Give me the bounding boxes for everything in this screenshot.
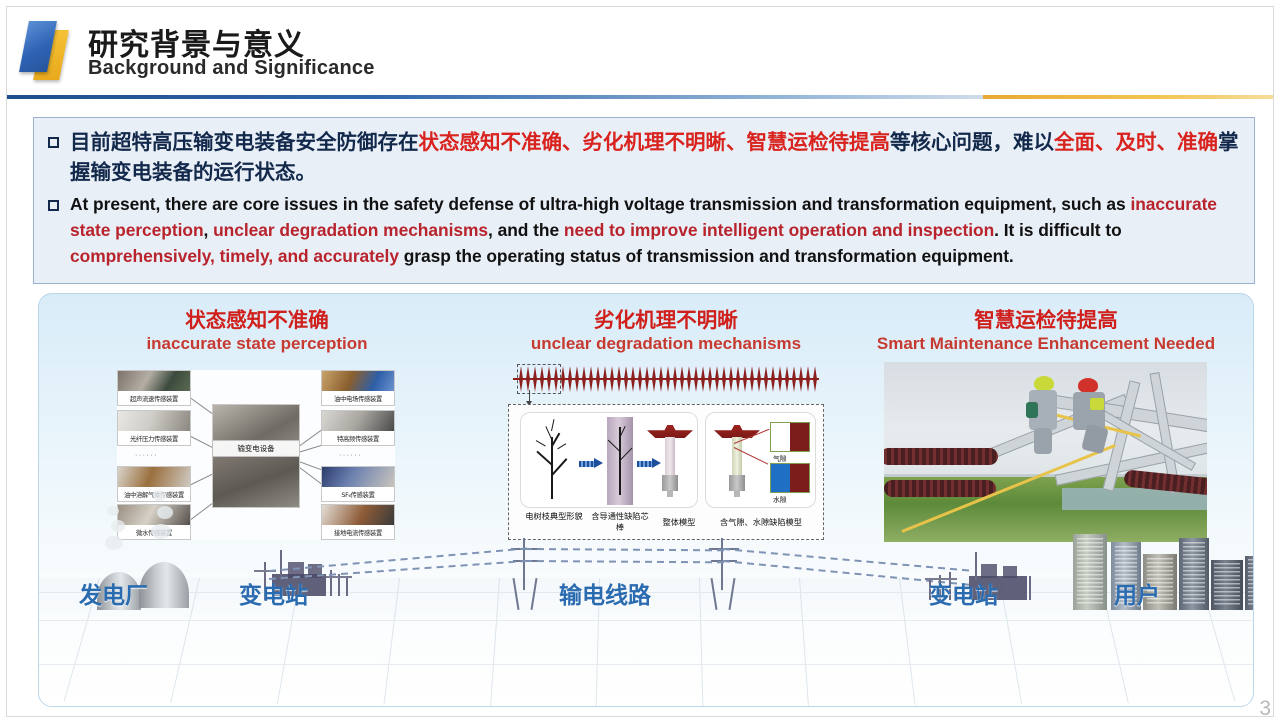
en-red2: unclear degradation mechanisms bbox=[213, 220, 488, 240]
city-building bbox=[1073, 534, 1107, 610]
insulator-fin bbox=[617, 366, 621, 392]
insulator-fin bbox=[778, 366, 782, 392]
header-rule-gold bbox=[983, 95, 1273, 99]
scene-label-user: 用户 bbox=[1114, 576, 1160, 610]
degradation-card-right: 气隙 水隙 bbox=[705, 412, 816, 508]
en-red4: comprehensively, timely, and accurately bbox=[70, 246, 399, 266]
column-heading-1: 状态感知不准确 inaccurate state perception bbox=[107, 308, 407, 355]
insulator-fin bbox=[610, 366, 614, 392]
air-gap-swatch bbox=[770, 422, 810, 452]
ellipsis-left: ······ bbox=[135, 452, 158, 459]
bullet-square-icon bbox=[48, 137, 59, 148]
scene-label-substation-right: 变电站 bbox=[929, 576, 998, 610]
figure-line-workers-photo bbox=[884, 362, 1207, 542]
insulator-fin bbox=[771, 366, 775, 392]
insulator-fin bbox=[603, 366, 607, 392]
insulator-fin bbox=[673, 366, 677, 392]
cn-red1: 状态感知不准确、劣化机理不明晰、智慧运检待提高 bbox=[419, 131, 891, 154]
en-seg3: , and the bbox=[488, 220, 564, 240]
ellipsis-right: ······ bbox=[339, 452, 362, 459]
en-red3: need to improve intelligent operation an… bbox=[564, 220, 994, 240]
column-2-cn: 劣化机理不明晰 bbox=[491, 308, 841, 333]
sensor-box: SF₆传感装置 bbox=[321, 466, 395, 502]
helmet-icon bbox=[1034, 376, 1054, 391]
insulator-fin bbox=[687, 366, 691, 392]
insulator-string-photo bbox=[884, 448, 998, 465]
insulator-fin bbox=[645, 366, 649, 392]
center-equipment-label: 输变电设备 bbox=[212, 440, 300, 457]
column-3-cn: 智慧运检待提高 bbox=[871, 308, 1221, 333]
worker-red-helmet bbox=[1070, 378, 1114, 452]
scene-label-transmission-line: 输电线路 bbox=[559, 576, 651, 610]
insulator-fin bbox=[666, 366, 670, 392]
insulator-fin bbox=[624, 366, 628, 392]
bullet-square-icon bbox=[48, 200, 59, 211]
cn-red2: 全面、及时、准确 bbox=[1054, 131, 1218, 154]
insulator-fin bbox=[722, 366, 726, 392]
sensor-box: 油中电场传感装置 bbox=[321, 370, 395, 406]
helmet-icon bbox=[1078, 378, 1098, 393]
city-building bbox=[1245, 556, 1254, 610]
en-seg1: At present, there are core issues in the… bbox=[70, 194, 1130, 214]
insulator-fin bbox=[750, 366, 754, 392]
insulator-fin bbox=[757, 366, 761, 392]
insulator-fin bbox=[589, 366, 593, 392]
cn-seg1: 目前超特高压输变电装备安全防御存在 bbox=[70, 131, 419, 154]
insulator-fin bbox=[596, 366, 600, 392]
column-1-en: inaccurate state perception bbox=[107, 333, 407, 355]
power-line bbox=[525, 560, 725, 563]
sensor-label: 超声流速传感装置 bbox=[118, 391, 190, 405]
sensor-photo bbox=[322, 371, 394, 391]
insulator-fin bbox=[659, 366, 663, 392]
callout-cn-text: 目前超特高压输变电装备安全防御存在状态感知不准确、劣化机理不明晰、智慧运检待提高… bbox=[70, 128, 1240, 188]
en-seg5: grasp the operating status of transmissi… bbox=[399, 246, 1014, 266]
worker-legs bbox=[1081, 424, 1109, 455]
logo-icon bbox=[22, 18, 80, 78]
column-1-cn: 状态感知不准确 bbox=[107, 308, 407, 333]
insulator-fin bbox=[799, 366, 803, 392]
sensor-photo bbox=[118, 467, 190, 487]
insulator-fin bbox=[792, 366, 796, 392]
insulator-fin bbox=[806, 366, 810, 392]
cn-seg2: 等核心问题，难以 bbox=[890, 131, 1054, 154]
illustration-panel: 状态感知不准确 inaccurate state perception 劣化机理… bbox=[38, 293, 1254, 707]
insulator-fin bbox=[652, 366, 656, 392]
sensor-photo bbox=[118, 371, 190, 391]
insulator-fin bbox=[701, 366, 705, 392]
insulator-fin bbox=[708, 366, 712, 392]
callout-box: 目前超特高压输变电装备安全防御存在状态感知不准确、劣化机理不明晰、智慧运检待提高… bbox=[33, 117, 1255, 284]
insulator-string-photo bbox=[884, 480, 996, 497]
insulator-fin bbox=[785, 366, 789, 392]
whole-insulator-model bbox=[647, 425, 693, 499]
insulator-fin bbox=[631, 366, 635, 392]
column-heading-3: 智慧运检待提高 Smart Maintenance Enhancement Ne… bbox=[871, 308, 1221, 355]
insulator-string bbox=[513, 364, 819, 394]
insulator-fin bbox=[743, 366, 747, 392]
insulator-fin bbox=[561, 366, 565, 392]
column-heading-2: 劣化机理不明晰 unclear degradation mechanisms bbox=[491, 308, 841, 355]
sensor-photo bbox=[118, 411, 190, 431]
callout-bullet-en: At present, there are core issues in the… bbox=[48, 191, 1240, 269]
sensor-label: SF₆传感装置 bbox=[322, 487, 394, 501]
worker-green-helmet bbox=[1024, 376, 1064, 454]
water-gap-swatch bbox=[770, 463, 810, 493]
blue-arrow-icon bbox=[579, 458, 603, 469]
callout-bullet-cn: 目前超特高压输变电装备安全防御存在状态感知不准确、劣化机理不明晰、智慧运检待提高… bbox=[48, 128, 1240, 188]
sensor-photo bbox=[322, 467, 394, 487]
column-3-en: Smart Maintenance Enhancement Needed bbox=[871, 333, 1221, 355]
page-title-en: Background and Significance bbox=[88, 57, 375, 80]
scene-label-substation-left: 变电站 bbox=[239, 576, 308, 610]
insulator-fin bbox=[680, 366, 684, 392]
air-gap-label: 气隙 bbox=[773, 453, 787, 463]
insulator-fin bbox=[764, 366, 768, 392]
insulator-fin bbox=[813, 366, 817, 392]
insulator-fin bbox=[568, 366, 572, 392]
header-rule-blue bbox=[7, 95, 983, 99]
en-seg4: . It is difficult to bbox=[994, 220, 1122, 240]
sensor-photo bbox=[322, 411, 394, 431]
insulator-fin bbox=[575, 366, 579, 392]
insulator-fin bbox=[736, 366, 740, 392]
column-2-en: unclear degradation mechanisms bbox=[491, 333, 841, 355]
insulator-fin bbox=[715, 366, 719, 392]
sensor-box: 光纤压力传感装置 bbox=[117, 410, 191, 446]
power-line bbox=[525, 548, 725, 551]
en-seg2: , bbox=[204, 220, 214, 240]
callout-en-text: At present, there are core issues in the… bbox=[70, 191, 1240, 269]
sensor-label: 特高频传感装置 bbox=[322, 431, 394, 445]
city-building bbox=[1179, 538, 1209, 610]
slide-root: 研究背景与意义 Background and Significance 目前超特… bbox=[0, 0, 1280, 723]
power-grid-scene: 发电厂 变电站 输电线路 变电站 用户 bbox=[39, 516, 1254, 706]
degradation-card-left bbox=[520, 412, 698, 508]
scene-label-power-plant: 发电厂 bbox=[79, 576, 148, 610]
sensor-label: 油中电场传感装置 bbox=[322, 391, 394, 405]
page-number: 3 bbox=[1259, 697, 1271, 721]
insulator-fin bbox=[694, 366, 698, 392]
city-building bbox=[1211, 560, 1243, 610]
water-gap-label: 水隙 bbox=[773, 494, 787, 504]
insulator-fin bbox=[638, 366, 642, 392]
insulator-fin bbox=[582, 366, 586, 392]
insulator-fin bbox=[729, 366, 733, 392]
sensor-box: 特高频传感装置 bbox=[321, 410, 395, 446]
slide-header: 研究背景与意义 Background and Significance bbox=[0, 0, 1280, 100]
sensor-label: 光纤压力传感装置 bbox=[118, 431, 190, 445]
sensor-box: 超声流速传感装置 bbox=[117, 370, 191, 406]
worker-legs bbox=[1034, 428, 1052, 454]
down-arrow-icon bbox=[529, 390, 530, 404]
